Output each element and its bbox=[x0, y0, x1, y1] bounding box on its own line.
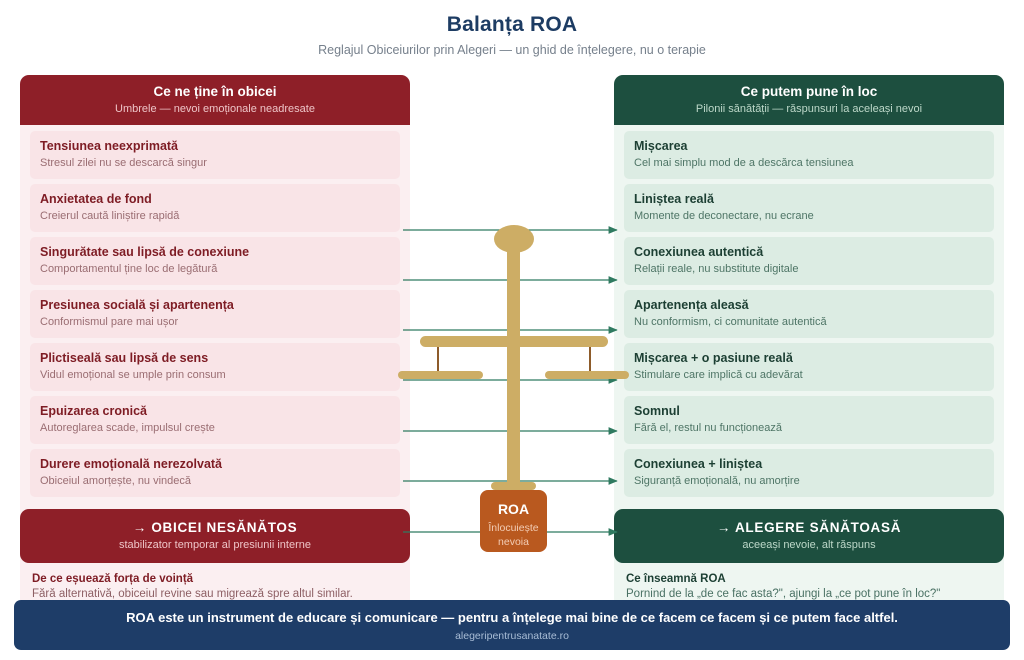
item-title: Presiunea socială și apartenența bbox=[40, 298, 390, 312]
item-title: Tensiunea neexprimată bbox=[40, 139, 390, 153]
item-title: Somnul bbox=[634, 404, 984, 418]
list-item: Mișcarea + o pasiune reală Stimulare car… bbox=[624, 343, 994, 391]
infographic-page: Balanța ROA Reglajul Obiceiurilor prin A… bbox=[0, 0, 1024, 660]
item-title: Anxietatea de fond bbox=[40, 192, 390, 206]
item-title: Plictiseală sau lipsă de sens bbox=[40, 351, 390, 365]
scale-pan-right bbox=[545, 371, 629, 379]
banner-text: ROA este un instrument de educare și com… bbox=[14, 610, 1010, 625]
right-outcome-title: → ALEGERE SĂNĂTOASĂ bbox=[624, 520, 994, 535]
right-outcome-desc: aceeași nevoie, alt răspuns bbox=[624, 539, 994, 551]
item-desc: Stresul zilei nu se descarcă singur bbox=[40, 157, 390, 170]
item-desc: Fără el, restul nu funcționează bbox=[634, 422, 984, 435]
left-note-desc: Fără alternativă, obiceiul revine sau mi… bbox=[32, 588, 398, 600]
right-panel-heading: Ce putem pune în loc bbox=[624, 84, 994, 99]
item-desc: Momente de deconectare, nu ecrane bbox=[634, 210, 984, 223]
item-title: Conexiunea autentică bbox=[634, 245, 984, 259]
item-title: Epuizarea cronică bbox=[40, 404, 390, 418]
item-title: Conexiunea + liniștea bbox=[634, 457, 984, 471]
list-item: Conexiunea autentică Relații reale, nu s… bbox=[624, 237, 994, 285]
right-panel: Ce putem pune în loc Pilonii sănătății —… bbox=[614, 75, 1004, 612]
scale-pan-left bbox=[398, 371, 483, 379]
right-note-desc: Pornind de la „de ce fac asta?", ajungi … bbox=[626, 588, 992, 600]
list-item: Plictiseală sau lipsă de sens Vidul emoț… bbox=[30, 343, 400, 391]
item-desc: Cel mai simplu mod de a descărca tensiun… bbox=[634, 157, 984, 170]
left-panel: Ce ne ține în obicei Umbrele — nevoi emo… bbox=[20, 75, 410, 612]
roa-badge-line2: nevoia bbox=[498, 536, 529, 548]
scale-crossbar bbox=[420, 336, 608, 347]
page-subtitle: Reglajul Obiceiurilor prin Alegeri — un … bbox=[0, 43, 1024, 57]
list-item: Durere emoțională nerezolvată Obiceiul a… bbox=[30, 449, 400, 497]
item-desc: Siguranță emoțională, nu amorțire bbox=[634, 475, 984, 488]
item-desc: Vidul emoțional se umple prin consum bbox=[40, 369, 390, 382]
list-item: Anxietatea de fond Creierul caută linișt… bbox=[30, 184, 400, 232]
item-desc: Creierul caută liniștire rapidă bbox=[40, 210, 390, 223]
item-title: Mișcarea + o pasiune reală bbox=[634, 351, 984, 365]
roa-badge-title: ROA bbox=[498, 501, 529, 517]
list-item: Epuizarea cronică Autoreglarea scade, im… bbox=[30, 396, 400, 444]
list-item: Somnul Fără el, restul nu funcționează bbox=[624, 396, 994, 444]
header-block: Balanța ROA Reglajul Obiceiurilor prin A… bbox=[0, 0, 1024, 57]
item-title: Apartenența aleasă bbox=[634, 298, 984, 312]
scale-post bbox=[507, 239, 520, 488]
left-outcome-banner: → OBICEI NESĂNĂTOS stabilizator temporar… bbox=[20, 509, 410, 563]
right-outcome-banner: → ALEGERE SĂNĂTOASĂ aceeași nevoie, alt … bbox=[614, 509, 1004, 563]
scale-illustration bbox=[398, 225, 629, 490]
item-desc: Autoreglarea scade, impulsul crește bbox=[40, 422, 390, 435]
item-title: Mișcarea bbox=[634, 139, 984, 153]
item-desc: Conformismul pare mai ușor bbox=[40, 316, 390, 329]
item-desc: Stimulare care implică cu adevărat bbox=[634, 369, 984, 382]
roa-badge: ROA Înlocuiește nevoia bbox=[480, 490, 547, 552]
left-outcome-title: → OBICEI NESĂNĂTOS bbox=[30, 520, 400, 535]
item-desc: Relații reale, nu substitute digitale bbox=[634, 263, 984, 276]
list-item: Apartenența aleasă Nu conformism, ci com… bbox=[624, 290, 994, 338]
right-panel-subheading: Pilonii sănătății — răspunsuri la acelea… bbox=[624, 103, 994, 115]
list-item: Singurătate sau lipsă de conexiune Compo… bbox=[30, 237, 400, 285]
balance-scale-graphic: ROA Înlocuiește nevoia bbox=[395, 150, 629, 570]
right-items-list: Mișcarea Cel mai simplu mod de a descărc… bbox=[614, 125, 1004, 509]
item-desc: Comportamentul ține loc de legătură bbox=[40, 263, 390, 276]
list-item: Tensiunea neexprimată Stresul zilei nu s… bbox=[30, 131, 400, 179]
left-items-list: Tensiunea neexprimată Stresul zilei nu s… bbox=[20, 125, 410, 509]
item-title: Singurătate sau lipsă de conexiune bbox=[40, 245, 390, 259]
item-title: Durere emoțională nerezolvată bbox=[40, 457, 390, 471]
item-title: Liniștea reală bbox=[634, 192, 984, 206]
left-panel-subheading: Umbrele — nevoi emoționale neadresate bbox=[30, 103, 400, 115]
page-title: Balanța ROA bbox=[0, 13, 1024, 37]
list-item: Conexiunea + liniștea Siguranță emoționa… bbox=[624, 449, 994, 497]
roa-badge-line1: Înlocuiește bbox=[487, 521, 538, 534]
item-desc: Obiceiul amorțește, nu vindecă bbox=[40, 475, 390, 488]
bottom-banner: ROA este un instrument de educare și com… bbox=[14, 600, 1010, 650]
left-panel-heading: Ce ne ține în obicei bbox=[30, 84, 400, 99]
list-item: Liniștea reală Momente de deconectare, n… bbox=[624, 184, 994, 232]
left-outcome-desc: stabilizator temporar al presiunii inter… bbox=[30, 539, 400, 551]
right-panel-header: Ce putem pune în loc Pilonii sănătății —… bbox=[614, 75, 1004, 125]
left-note-title: De ce eșuează forța de voință bbox=[32, 573, 398, 585]
list-item: Presiunea socială și apartenența Conform… bbox=[30, 290, 400, 338]
item-desc: Nu conformism, ci comunitate autentică bbox=[634, 316, 984, 329]
scale-base bbox=[491, 482, 536, 490]
list-item: Mișcarea Cel mai simplu mod de a descărc… bbox=[624, 131, 994, 179]
banner-site: alegeripentrusanatate.ro bbox=[14, 630, 1010, 642]
left-panel-header: Ce ne ține în obicei Umbrele — nevoi emo… bbox=[20, 75, 410, 125]
right-note-title: Ce înseamnă ROA bbox=[626, 573, 992, 585]
